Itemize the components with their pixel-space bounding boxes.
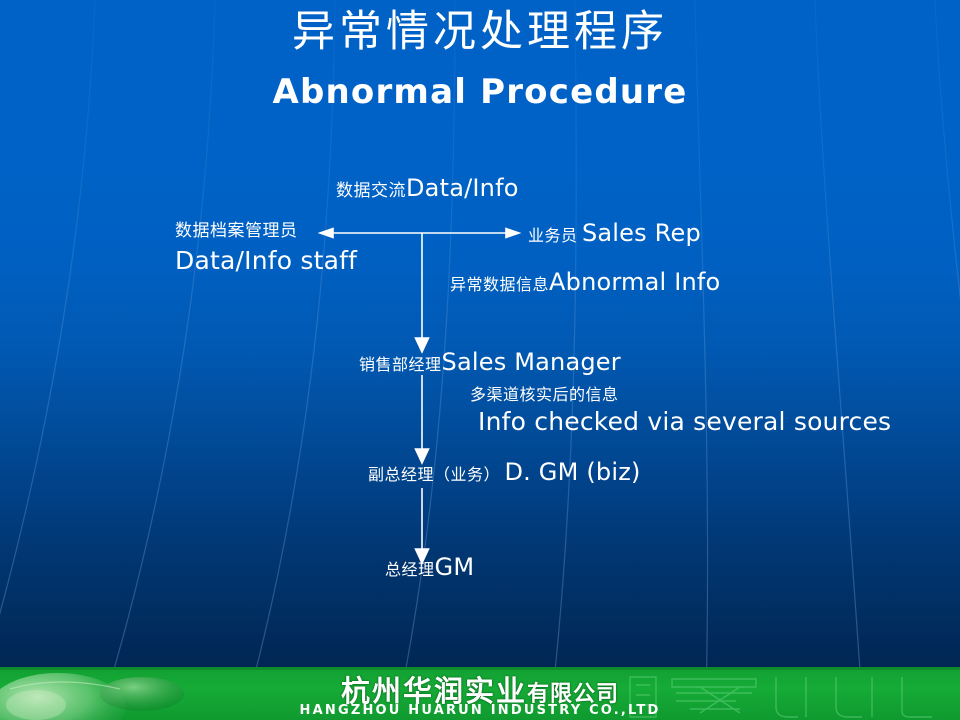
node-sales-manager-en: Sales Manager <box>442 348 621 376</box>
node-data-info-staff: 数据档案管理员 Data/Info staff <box>175 221 357 275</box>
node-gm-en: GM <box>435 553 475 581</box>
node-sales-rep-en: Sales Rep <box>582 219 701 247</box>
node-data-info-staff-en: Data/Info staff <box>175 246 357 276</box>
footer-banner: 杭州华润实业有限公司 HANGZHOU HUARUN INDUSTRY CO.,… <box>0 667 960 720</box>
node-sales-rep: 业务员 Sales Rep <box>528 219 701 247</box>
edge-label-info-checked: 多渠道核实后的信息 Info checked via several sourc… <box>470 386 891 436</box>
edge-label-data-info-en: Data/Info <box>406 174 519 202</box>
edge-label-info-checked-en: Info checked via several sources <box>478 407 891 437</box>
edge-label-abnormal-info-en: Abnormal Info <box>549 268 720 296</box>
node-sales-manager-cn: 销售部经理 <box>359 355 442 374</box>
edge-label-data-info: 数据交流Data/Info <box>336 174 519 202</box>
page-title-cn: 异常情况处理程序 <box>0 8 960 57</box>
page-title-en: Abnormal Procedure <box>0 72 960 112</box>
node-gm: 总经理GM <box>385 553 474 581</box>
arrowhead-right <box>506 229 519 238</box>
node-deputy-gm-biz: 副总经理（业务） D. GM (biz) <box>368 458 641 486</box>
node-sales-manager: 销售部经理Sales Manager <box>359 348 621 376</box>
node-data-info-staff-cn: 数据档案管理员 <box>175 221 298 241</box>
footer-company-en: HANGZHOU HUARUN INDUSTRY CO.,LTD <box>0 703 960 718</box>
node-gm-cn: 总经理 <box>385 560 435 579</box>
node-deputy-gm-biz-cn: 副总经理（业务） <box>368 465 500 484</box>
node-sales-rep-cn: 业务员 <box>528 226 578 245</box>
node-deputy-gm-biz-en: D. GM (biz) <box>504 458 640 486</box>
edge-label-data-info-cn: 数据交流 <box>336 181 406 201</box>
edge-label-abnormal-info-cn: 异常数据信息 <box>450 275 549 294</box>
edge-label-abnormal-info: 异常数据信息Abnormal Info <box>450 268 720 296</box>
edge-label-info-checked-cn: 多渠道核实后的信息 <box>470 385 619 404</box>
slide-canvas: 异常情况处理程序 Abnormal Procedure 数据交流D <box>0 0 960 720</box>
